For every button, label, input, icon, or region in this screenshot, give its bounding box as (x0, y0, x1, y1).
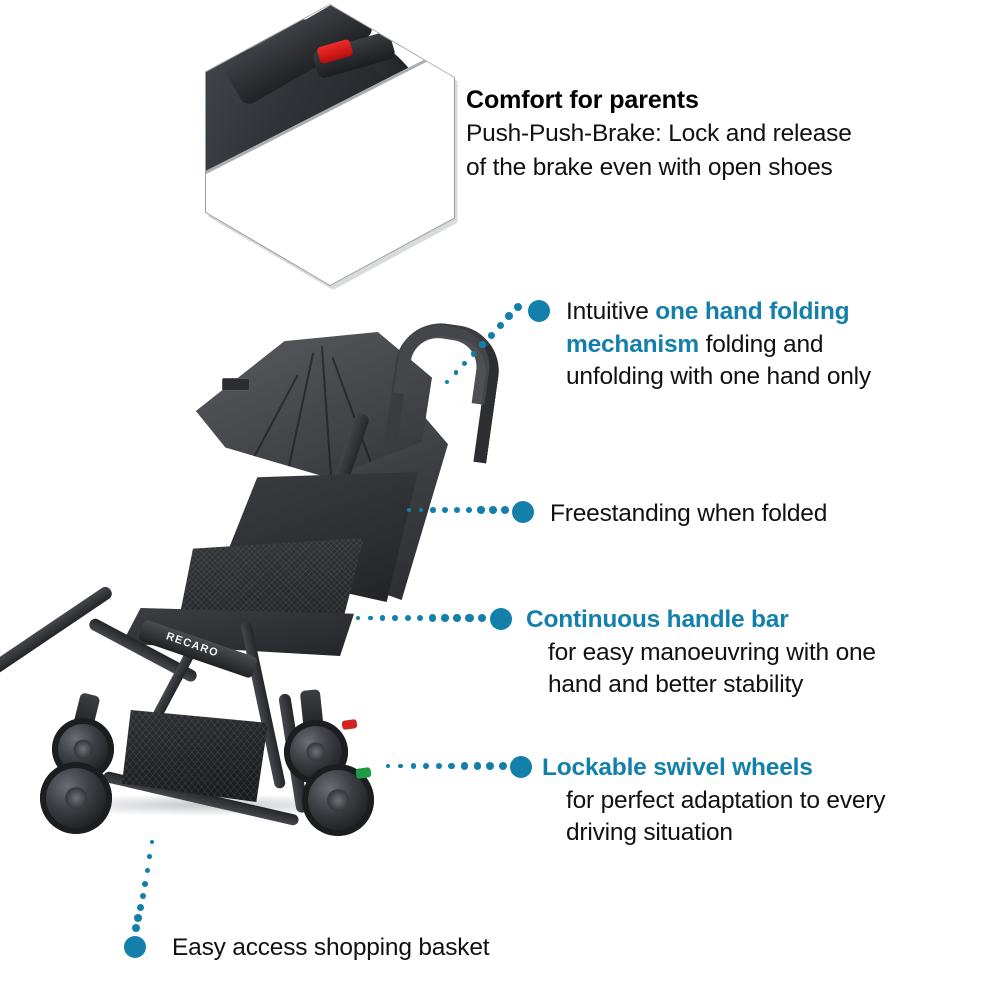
callout-text-strong: mechanism (566, 331, 699, 358)
callout-one-hand-folding: Intuitive one hand folding mechanism fol… (528, 296, 958, 394)
callout-line-1: Easy access shopping basket (172, 932, 584, 965)
callout-heading: Lockable swivel wheels (542, 752, 950, 785)
callout-text-strong: one hand folding (655, 298, 849, 325)
callout-line-1: for easy manoeuvring with one (548, 637, 930, 670)
infographic-canvas: Comfort for parents Push-Push-Brake: Loc… (0, 0, 1000, 1000)
leader-dot (134, 914, 142, 922)
callout-line-1: for perfect adaptation to every (566, 785, 950, 818)
leader-dot (145, 868, 150, 873)
leader-dot (147, 854, 152, 859)
callout-line-1: Freestanding when folded (550, 498, 932, 531)
callout-line-1: Intuitive one hand folding (566, 296, 958, 329)
callout-line-3: unfolding with one hand only (566, 361, 958, 394)
leader-dot (140, 893, 147, 900)
callout-bullet-dot (512, 501, 534, 523)
callout-text-plain: Intuitive (566, 298, 655, 325)
callout-freestanding: Freestanding when folded (512, 498, 932, 531)
leader-dot (142, 881, 148, 887)
leader-dot (137, 904, 144, 911)
callout-line-2: driving situation (566, 817, 950, 850)
callout-shopping-basket: Easy access shopping basket (124, 932, 584, 965)
callout-bullet-dot (510, 756, 532, 778)
callout-lockable-swivel-wheels: Lockable swivel wheels for perfect adapt… (510, 752, 950, 850)
callout-continuous-handle-bar: Continuous handle bar for easy manoeuvri… (490, 604, 930, 702)
leader-dot (132, 924, 140, 932)
callout-bullet-dot (124, 936, 146, 958)
leader-dot (150, 840, 154, 844)
callout-text-plain: folding and (699, 331, 823, 358)
callout-heading: Continuous handle bar (526, 604, 930, 637)
callout-bullet-dot (528, 300, 550, 322)
callout-bullet-dot (490, 608, 512, 630)
callout-line-2: mechanism folding and (566, 329, 958, 362)
callout-line-2: hand and better stability (548, 669, 930, 702)
